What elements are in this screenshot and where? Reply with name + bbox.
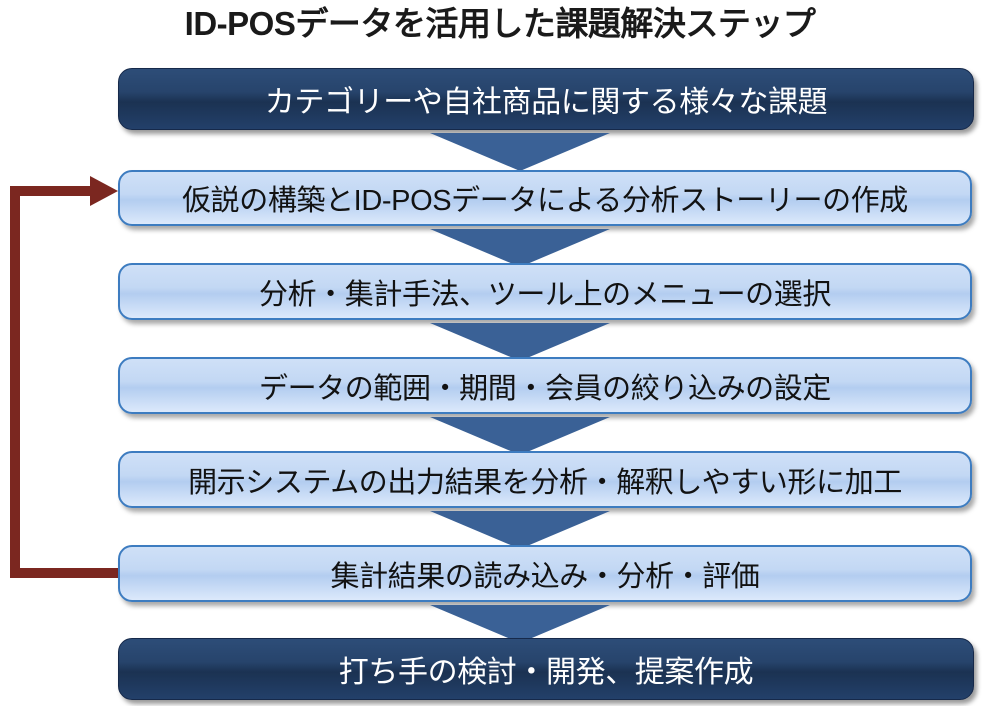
flow-node-step-2[interactable]: 仮説の構築とID-POSデータによる分析ストーリーの作成 [118, 170, 972, 226]
flow-node-step-7-label: 打ち手の検討・開発、提案作成 [329, 647, 763, 691]
flow-node-step-2-label: 仮説の構築とID-POSデータによる分析ストーリーの作成 [172, 177, 918, 219]
feedback-loop-left-segment [10, 186, 20, 578]
feedback-loop-arrowhead-icon [90, 176, 118, 206]
flow-node-step-7[interactable]: 打ち手の検討・開発、提案作成 [118, 638, 974, 700]
feedback-loop-bottom-segment [10, 568, 120, 578]
flow-node-step-6-label: 集計結果の読み込み・分析・評価 [320, 553, 769, 595]
flow-node-step-6[interactable]: 集計結果の読み込み・分析・評価 [118, 545, 972, 602]
down-arrow-icon-3 [430, 323, 610, 361]
flow-node-step-5[interactable]: 開示システムの出力結果を分析・解釈しやすい形に加工 [118, 451, 972, 508]
flow-node-step-5-label: 開示システムの出力結果を分析・解釈しやすい形に加工 [178, 459, 912, 501]
diagram-canvas: ID-POSデータを活用した課題解決ステップ カテゴリーや自社商品に関する様々な… [0, 0, 1000, 706]
page-title: ID-POSデータを活用した課題解決ステップ [0, 2, 1000, 46]
down-arrow-icon-2 [430, 229, 610, 267]
flow-node-step-3-label: 分析・集計手法、ツール上のメニューの選択 [249, 271, 841, 313]
flow-node-step-4-label: データの範囲・期間・会員の絞り込みの設定 [249, 365, 841, 407]
flow-node-step-4[interactable]: データの範囲・期間・会員の絞り込みの設定 [118, 357, 972, 414]
flow-node-step-3[interactable]: 分析・集計手法、ツール上のメニューの選択 [118, 263, 972, 320]
down-arrow-icon-1 [430, 133, 610, 171]
flow-node-step-1[interactable]: カテゴリーや自社商品に関する様々な課題 [118, 68, 974, 130]
flow-node-step-1-label: カテゴリーや自社商品に関する様々な課題 [255, 77, 837, 121]
down-arrow-icon-4 [430, 417, 610, 455]
down-arrow-icon-5 [430, 511, 610, 549]
feedback-loop-top-segment [10, 186, 100, 196]
